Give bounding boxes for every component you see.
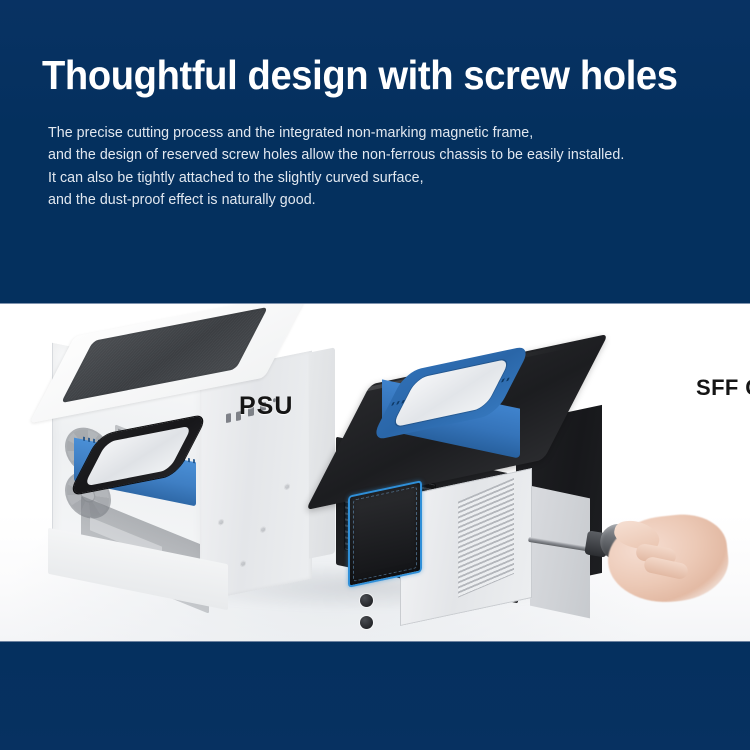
grommet-hole (360, 616, 373, 629)
product-photo-panel: PSU SFF Case (0, 303, 750, 642)
grommet-hole (360, 594, 373, 607)
screw-hole (284, 483, 290, 490)
screw-hole (240, 560, 246, 567)
description-paragraph: The precise cutting process and the inte… (48, 122, 692, 212)
sff-dust-filter (378, 360, 528, 452)
label-psu: PSU (239, 392, 293, 421)
power-button-icon (226, 413, 231, 423)
screw-hole (260, 526, 266, 533)
description-line-2: and the design of reserved screw holes a… (48, 144, 692, 166)
label-sff-case: SFF Case (696, 375, 750, 401)
aluminum-vent-grille (458, 478, 514, 598)
screw-hole (218, 519, 224, 526)
psu-dust-filter (74, 426, 204, 498)
aluminum-side-panel (530, 486, 590, 619)
page-title: Thoughtful design with screw holes (42, 53, 678, 97)
description-line-4: and the dust-proof effect is naturally g… (48, 189, 692, 211)
description-line-1: The precise cutting process and the inte… (48, 122, 692, 144)
description-line-3: It can also be tightly attached to the s… (48, 167, 692, 189)
sff-case-group: SFF Case (330, 352, 700, 622)
reserved-screw-hole-opening (348, 480, 422, 588)
header-section: Thoughtful design with screw holes The p… (0, 0, 750, 303)
aluminum-case (400, 482, 630, 632)
product-banner: Thoughtful design with screw holes The p… (0, 0, 750, 750)
white-atx-case: PSU (52, 310, 352, 630)
